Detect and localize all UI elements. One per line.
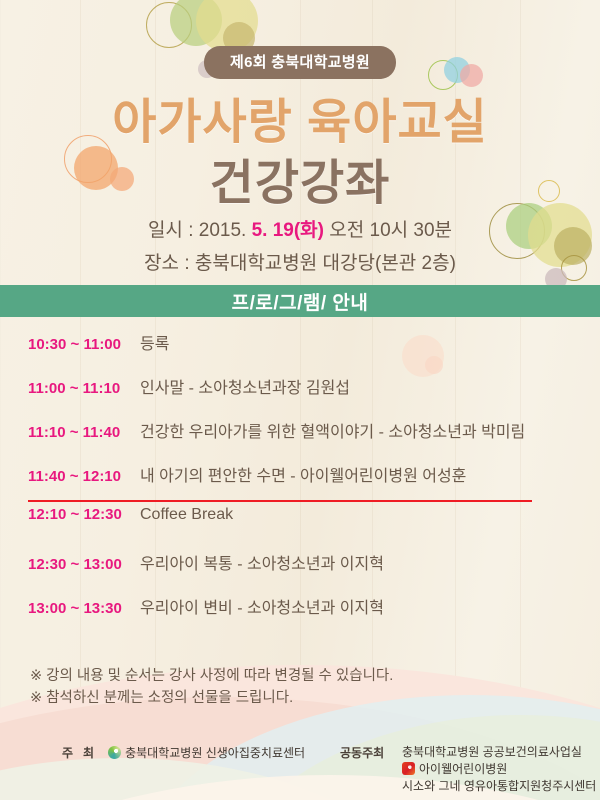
cohost-organization-label: 아이웰어린이병원 [419,762,507,776]
schedule-row: 13:00 ~ 13:30우리아이 변비 - 소아청소년과 이지혁 [0,594,600,638]
schedule-row-description: Coffee Break [140,506,233,524]
date-label: 일시 : [148,220,194,241]
schedule-row-description: 우리아이 복통 - 소아청소년과 이지혁 [140,550,384,574]
host-block: 주최 충북대학교병원 신생아집중치료센터 [62,744,305,761]
green-circle-top [170,0,222,46]
schedule-row: 11:00 ~ 11:10인사말 - 소아청소년과장 김원섭 [0,374,600,418]
date-year: 2015. [199,220,247,241]
schedule-row-time: 10:30 ~ 11:00 [28,336,140,353]
schedule-row-time: 11:00 ~ 11:10 [28,380,140,397]
schedule-row: 10:30 ~ 11:00등록 [0,330,600,374]
iwell-childrens-hospital-logo-icon [402,762,415,775]
program-schedule-list: 10:30 ~ 11:00등록11:00 ~ 11:10인사말 - 소아청소년과… [0,330,600,638]
date-time: 오전 10시 30분 [329,220,452,241]
schedule-row: 12:10 ~ 12:30Coffee Break [0,506,600,550]
schedule-row-description: 우리아이 변비 - 소아청소년과 이지혁 [140,594,384,618]
note-line-2: ※ 참석하신 분께는 소정의 선물을 드립니다. [30,687,393,709]
schedule-row-description: 등록 [140,330,169,354]
schedule-row: 11:10 ~ 11:40건강한 우리아가를 위한 혈액이야기 - 소아청소년과… [0,418,600,462]
event-place-line: 장소 : 충북대학교병원 대강당(본관 2층) [0,248,600,275]
program-banner-text: 프/로/그/램/ 안내 [232,288,369,315]
event-date-line: 일시 : 2015. 5. 19(화) 오전 10시 30분 [0,215,600,242]
schedule-row-time: 11:40 ~ 12:10 [28,468,140,485]
place-label: 장소 : [144,253,190,274]
cohost-organization-name: 시소와 그네 영유아통합지원청주시센터 [402,778,596,795]
schedule-row: 11:40 ~ 12:10내 아기의 편안한 수면 - 아이웰어린이병원 어성훈 [0,462,600,506]
host-organization-name: 충북대학교병원 신생아집중치료센터 [125,744,305,761]
poster-notes: ※ 강의 내용 및 순서는 강사 사정에 따라 변경될 수 있습니다. ※ 참석… [30,665,393,709]
event-edition-badge: 제6회 충북대학교병원 [204,46,396,79]
place-value: 충북대학교병원 대강당(본관 2층) [195,253,456,274]
cohost-label: 공동주최 [340,744,384,761]
cohost-organization-name: 충북대학교병원 공공보건의료사업실 [402,744,596,761]
olive-ring-top-left [146,2,192,48]
schedule-row-time: 12:10 ~ 12:30 [28,506,140,523]
poster-footer: 주최 충북대학교병원 신생아집중치료센터 공동주최 충북대학교병원 공공보건의료… [0,742,600,800]
schedule-row-time: 12:30 ~ 13:00 [28,556,140,573]
schedule-row-description: 내 아기의 편안한 수면 - 아이웰어린이병원 어성훈 [140,462,466,486]
program-banner: 프/로/그/램/ 안내 [0,285,600,317]
yellow-circle-top [196,0,258,52]
blue-circle-title [444,57,470,83]
poster-root: 제6회 충북대학교병원 아가사랑 육아교실 건강강좌 일시 : 2015. 5.… [0,0,600,800]
schedule-row-description: 건강한 우리아가를 위한 혈액이야기 - 소아청소년과 박미림 [140,418,525,442]
date-highlight: 5. 19(화) [252,220,324,241]
schedule-row-time: 13:00 ~ 13:30 [28,600,140,617]
host-label: 주최 [62,744,104,761]
chungbuk-nicu-spiral-logo-icon [108,746,121,759]
schedule-row-time: 11:10 ~ 11:40 [28,424,140,441]
schedule-row: 12:30 ~ 13:00우리아이 복통 - 소아청소년과 이지혁 [0,550,600,594]
note-line-1: ※ 강의 내용 및 순서는 강사 사정에 따라 변경될 수 있습니다. [30,665,393,687]
poster-title-line1: 아가사랑 육아교실 [0,82,600,152]
schedule-row-description: 인사말 - 소아청소년과장 김원섭 [140,374,350,398]
cohost-organization-name: 아이웰어린이병원 [402,761,596,778]
poster-title-line2: 건강강좌 [0,143,600,213]
cohost-block: 공동주최 충북대학교병원 공공보건의료사업실 아이웰어린이병원 시소와 그네 영… [340,744,596,795]
